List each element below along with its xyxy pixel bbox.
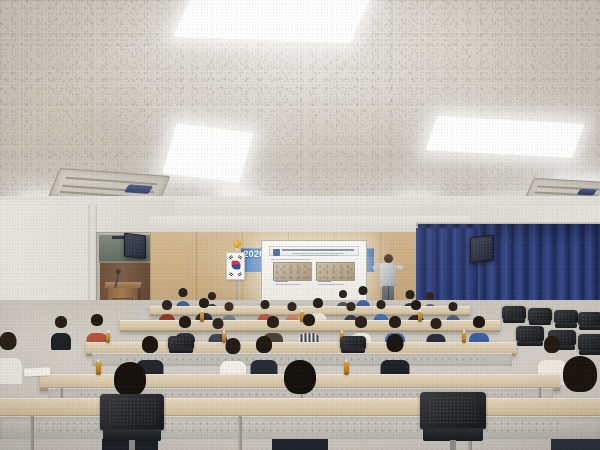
water-bottle [344,362,349,375]
water-bottle [96,362,101,375]
wall-speaker [124,233,146,260]
chair[interactable] [340,336,366,356]
seminar-room-photo: 2020 카데미 [0,0,600,450]
handout-paper[interactable] [24,367,50,376]
chair[interactable] [100,394,164,450]
water-bottle [462,333,466,343]
lectern-top [105,282,142,288]
screen-surface [263,242,365,300]
attendee [252,336,275,378]
attendee [0,332,20,376]
taeguk-symbol [231,260,240,269]
chair[interactable] [168,336,194,356]
empty-chair[interactable] [554,310,578,331]
slide-photo [316,262,356,281]
empty-chair[interactable] [578,312,600,333]
table-leg [30,416,34,450]
table-leg [238,416,242,450]
ceiling-lamp [173,0,371,43]
presenter-torso [380,263,396,287]
slide-caption [318,284,343,285]
water-bottle [418,312,422,322]
water-bottle [106,333,110,343]
presenter-head [384,254,393,263]
water-bottle [200,312,204,322]
table-modesty-panel [0,416,600,439]
ceiling-lamp [162,123,254,183]
slide-caption [318,281,331,283]
empty-chair[interactable] [502,306,526,326]
organization-logo-icon [273,249,280,256]
korean-flag [226,252,245,280]
empty-chair[interactable] [528,308,552,328]
flag-finial [233,240,241,248]
chair[interactable] [420,392,486,450]
slide-title-bar [269,246,359,256]
attendee [52,316,69,346]
attendee [222,338,244,378]
attendee [382,334,407,378]
projection-screen [261,240,367,302]
slide-caption [275,284,300,285]
slide-photo [273,262,313,281]
wall-speaker [470,235,494,264]
slide-caption [275,281,288,283]
